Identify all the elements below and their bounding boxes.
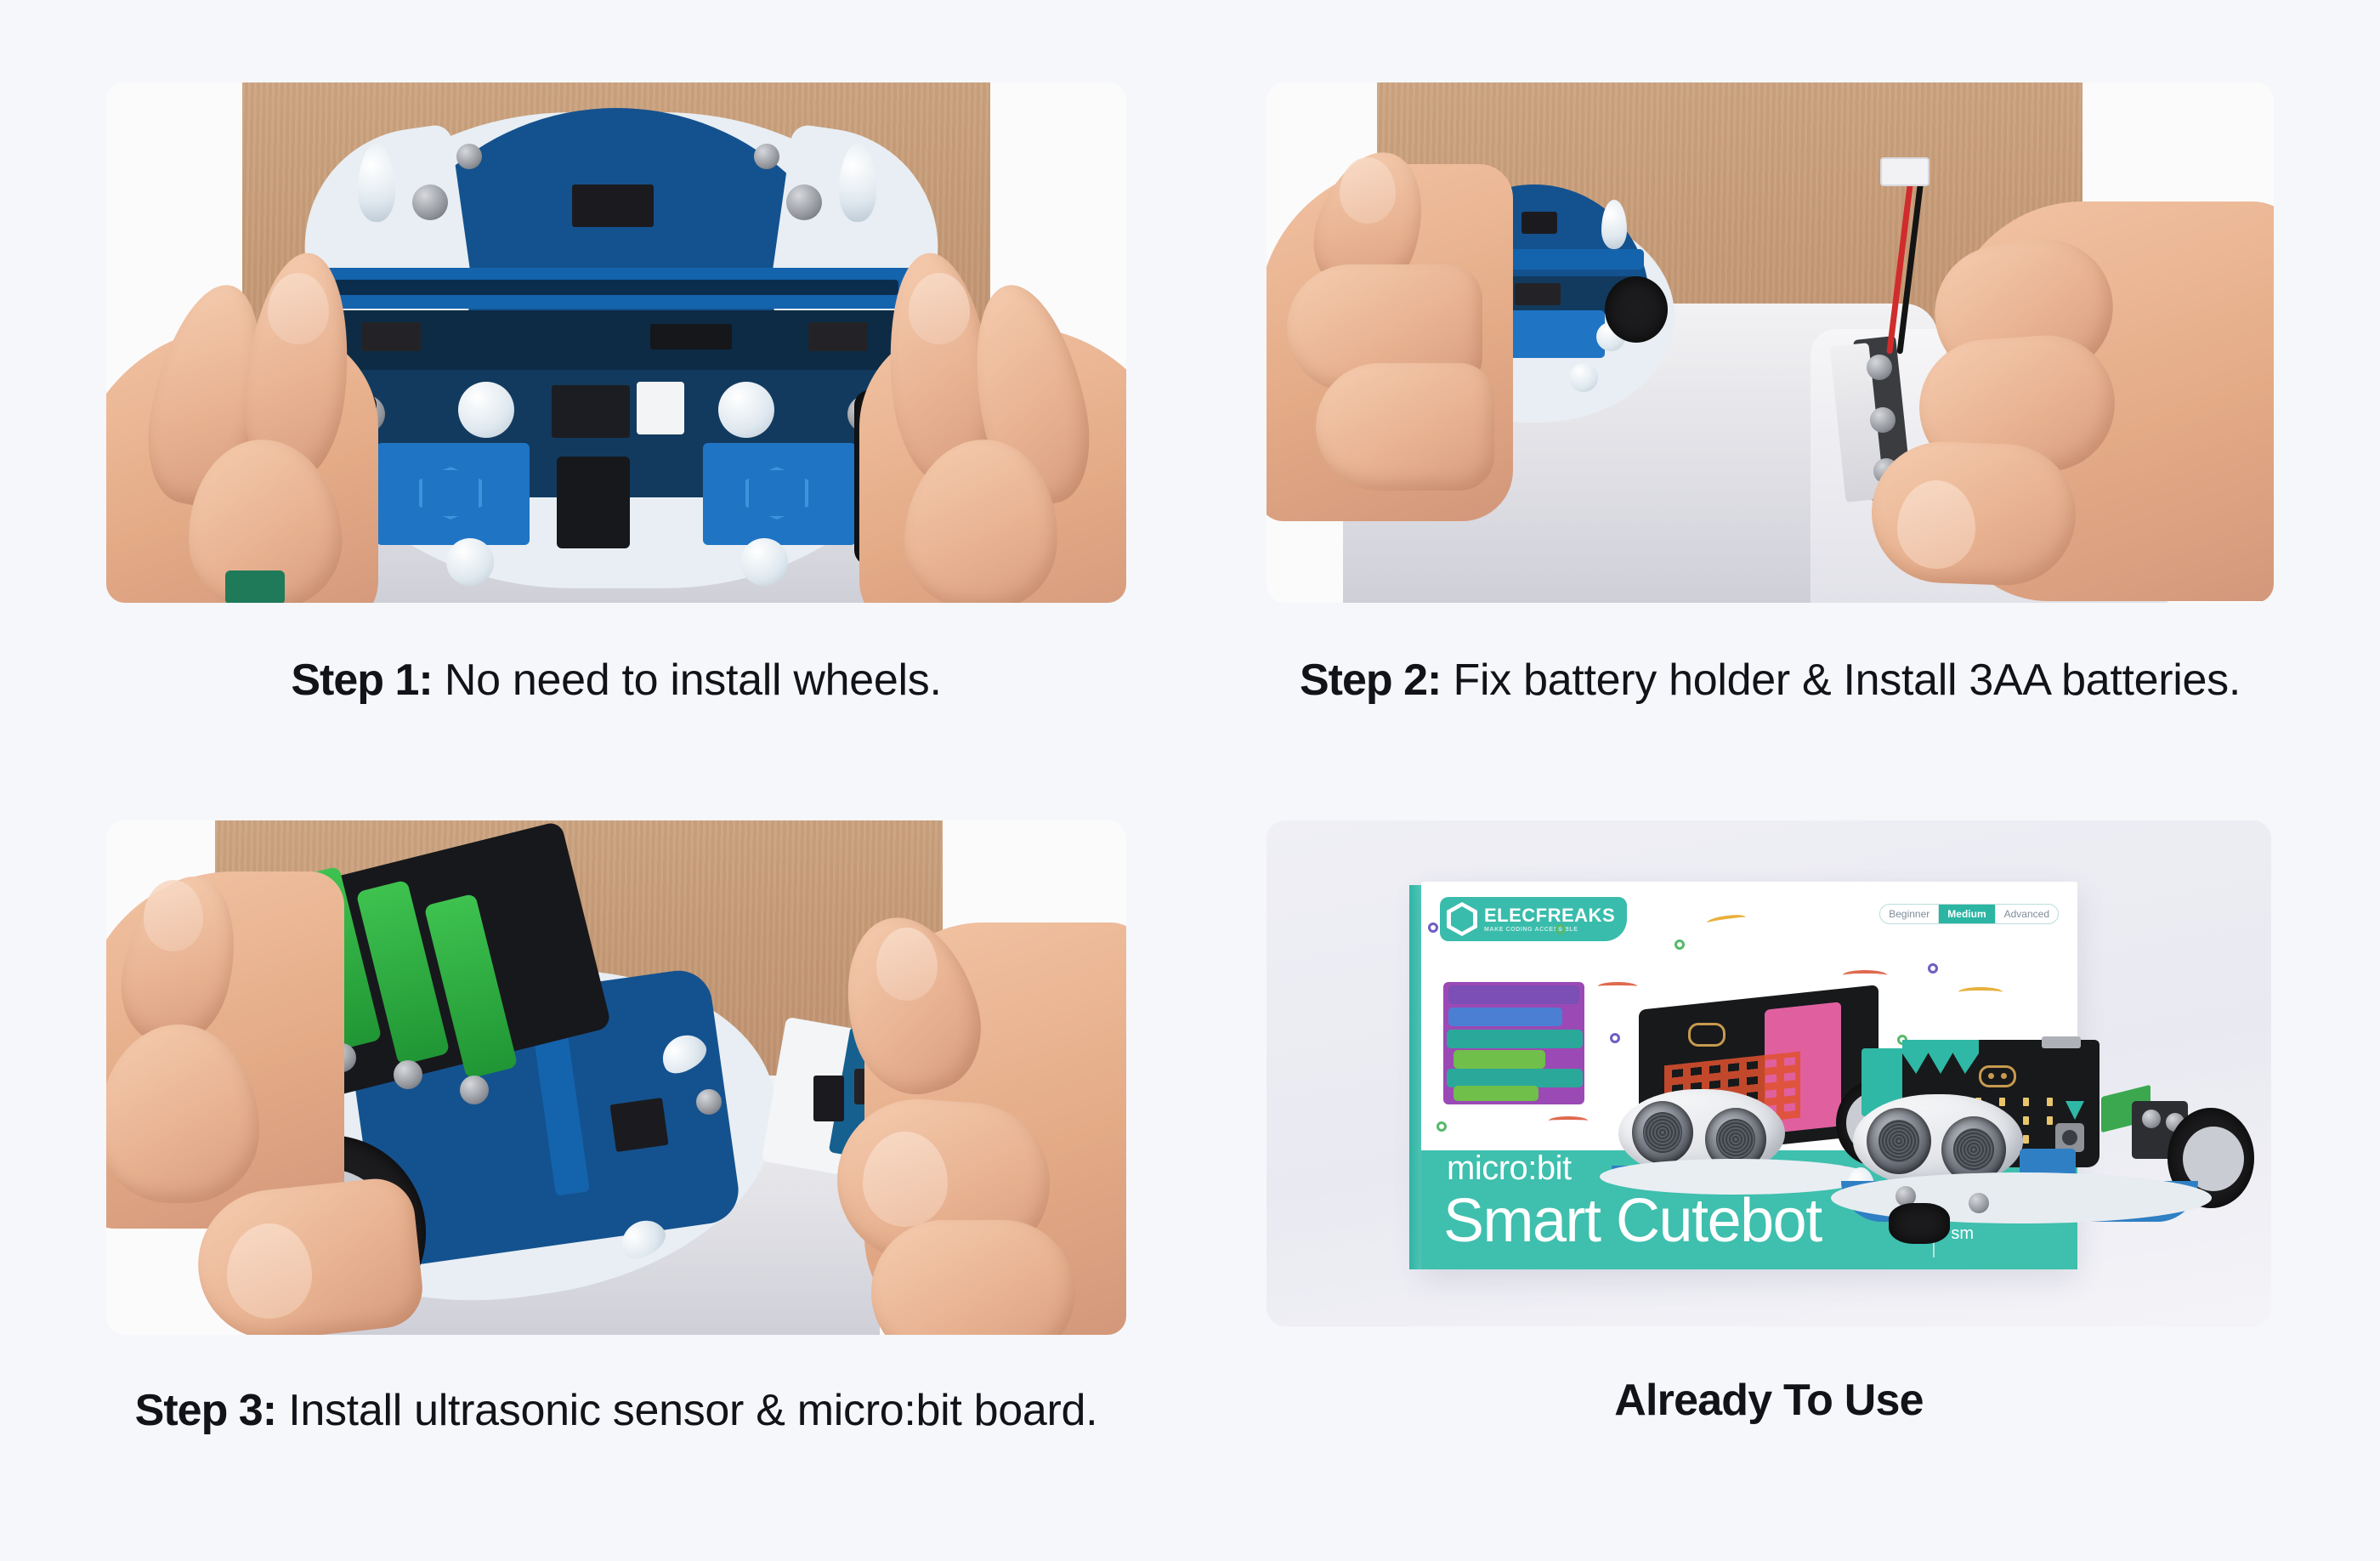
box-title-small: micro:bit bbox=[1447, 1149, 1572, 1188]
step-card-2: Step 2: Fix battery holder & Install 3AA… bbox=[1266, 82, 2274, 707]
step-1-photo bbox=[106, 82, 1126, 603]
step-card-1: Step 1: No need to install wheels. bbox=[106, 82, 1126, 707]
step-2-caption: Step 2: Fix battery holder & Install 3AA… bbox=[1266, 654, 2274, 707]
step-3-caption: Step 3: Install ultrasonic sensor & micr… bbox=[106, 1384, 1126, 1438]
box-side-text-2: sm bbox=[1951, 1222, 1974, 1246]
step-2-text: Fix battery holder & Install 3AA batteri… bbox=[1453, 656, 2241, 705]
brand-name: ELECFREAKS bbox=[1484, 906, 1615, 925]
box-title-big: Smart Cutebot bbox=[1443, 1186, 1822, 1256]
step-2-photo bbox=[1266, 82, 2274, 603]
elecfreaks-logo: ELECFREAKS MAKE CODING ACCESSIBLE bbox=[1440, 897, 1627, 941]
step-3-text: Install ultrasonic sensor & micro:bit bo… bbox=[288, 1386, 1097, 1435]
result-photo: ELECFREAKS MAKE CODING ACCESSIBLE Beginn… bbox=[1266, 820, 2271, 1326]
step-1-caption: Step 1: No need to install wheels. bbox=[106, 654, 1126, 707]
step-1-text: No need to install wheels. bbox=[445, 656, 942, 705]
difficulty-selector[interactable]: Beginner Medium Advanced bbox=[1879, 904, 2059, 924]
result-card: ELECFREAKS MAKE CODING ACCESSIBLE Beginn… bbox=[1266, 820, 2271, 1428]
step-3-photo bbox=[106, 820, 1126, 1335]
instruction-sheet: Step 1: No need to install wheels. bbox=[0, 0, 2380, 1561]
step-3-label: Step 3: bbox=[135, 1386, 276, 1435]
code-blocks-illustration bbox=[1443, 982, 1584, 1104]
difficulty-advanced[interactable]: Advanced bbox=[1996, 905, 2058, 923]
step-2-label: Step 2: bbox=[1300, 656, 1441, 705]
brand-tagline: MAKE CODING ACCESSIBLE bbox=[1484, 927, 1615, 933]
difficulty-medium[interactable]: Medium bbox=[1939, 905, 1995, 923]
elecfreaks-hex-icon bbox=[1447, 902, 1477, 936]
result-caption: Already To Use bbox=[1266, 1374, 2271, 1428]
difficulty-beginner[interactable]: Beginner bbox=[1880, 905, 1939, 923]
step-card-3: Step 3: Install ultrasonic sensor & micr… bbox=[106, 820, 1126, 1438]
step-1-label: Step 1: bbox=[291, 656, 432, 705]
